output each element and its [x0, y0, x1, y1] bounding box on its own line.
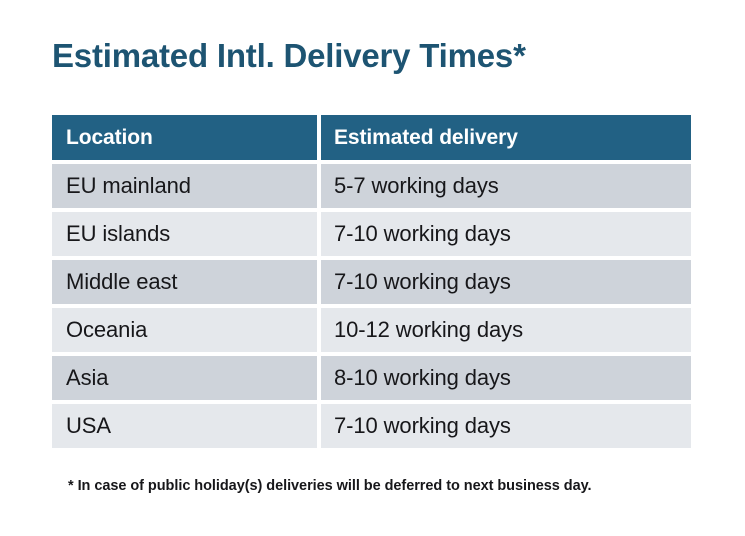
column-header-estimated-delivery-label: Estimated delivery	[334, 126, 518, 150]
delivery-times-table: Location Estimated delivery EU mainland …	[52, 115, 691, 448]
table-row: Asia 8-10 working days	[52, 356, 691, 400]
cell-location: Asia	[52, 356, 317, 400]
cell-delivery: 7-10 working days	[321, 212, 691, 256]
cell-delivery-text: 5-7 working days	[334, 173, 499, 199]
column-header-location: Location	[52, 115, 317, 160]
column-header-estimated-delivery: Estimated delivery	[321, 115, 691, 160]
delivery-times-page: Estimated Intl. Delivery Times* Location…	[0, 0, 745, 536]
cell-location-text: Asia	[66, 365, 108, 391]
cell-delivery: 7-10 working days	[321, 260, 691, 304]
cell-delivery: 5-7 working days	[321, 164, 691, 208]
cell-location: EU mainland	[52, 164, 317, 208]
cell-delivery: 8-10 working days	[321, 356, 691, 400]
cell-location-text: Oceania	[66, 317, 147, 343]
cell-location-text: EU islands	[66, 221, 170, 247]
cell-location: EU islands	[52, 212, 317, 256]
cell-location: Middle east	[52, 260, 317, 304]
cell-location: Oceania	[52, 308, 317, 352]
cell-location-text: EU mainland	[66, 173, 191, 199]
cell-location-text: USA	[66, 413, 111, 439]
table-row: Oceania 10-12 working days	[52, 308, 691, 352]
table-row: EU mainland 5-7 working days	[52, 164, 691, 208]
cell-delivery: 7-10 working days	[321, 404, 691, 448]
cell-delivery-text: 7-10 working days	[334, 413, 511, 439]
cell-delivery-text: 10-12 working days	[334, 317, 523, 343]
page-title: Estimated Intl. Delivery Times*	[52, 36, 526, 76]
table-row: Middle east 7-10 working days	[52, 260, 691, 304]
table-header-row: Location Estimated delivery	[52, 115, 691, 160]
cell-delivery-text: 8-10 working days	[334, 365, 511, 391]
table-row: EU islands 7-10 working days	[52, 212, 691, 256]
cell-delivery-text: 7-10 working days	[334, 221, 511, 247]
cell-delivery-text: 7-10 working days	[334, 269, 511, 295]
footnote: * In case of public holiday(s) deliverie…	[68, 478, 592, 494]
cell-delivery: 10-12 working days	[321, 308, 691, 352]
table-row: USA 7-10 working days	[52, 404, 691, 448]
cell-location-text: Middle east	[66, 269, 177, 295]
column-header-location-label: Location	[66, 126, 153, 150]
cell-location: USA	[52, 404, 317, 448]
